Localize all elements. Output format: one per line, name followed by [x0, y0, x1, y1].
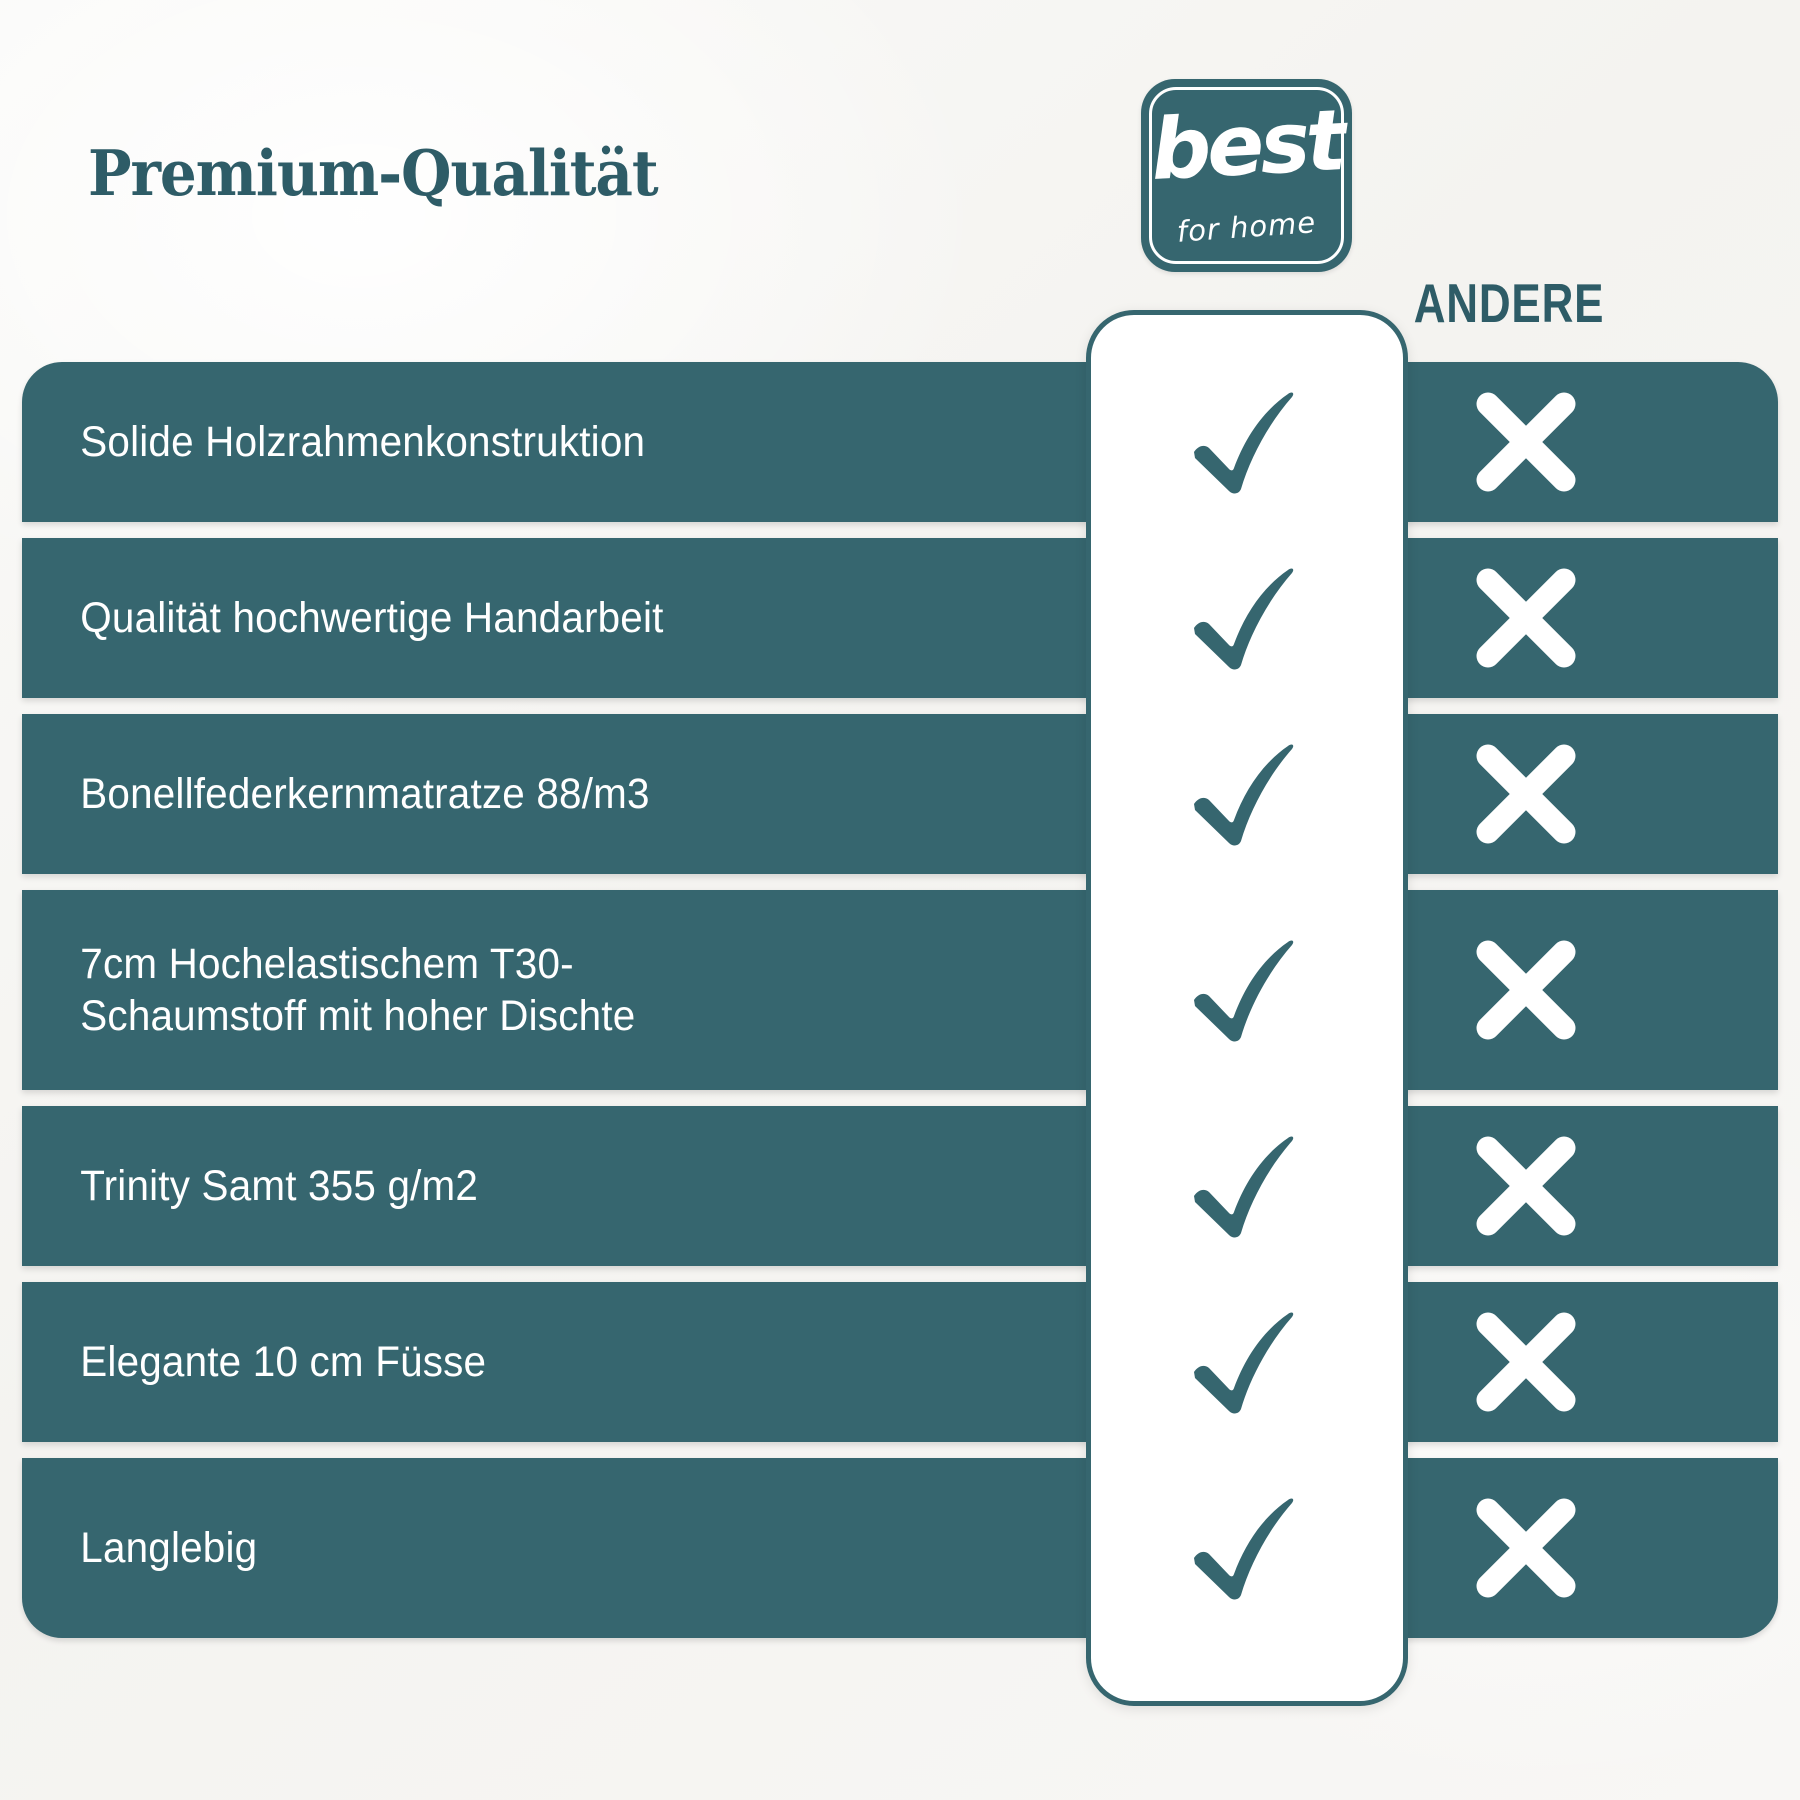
cross-icon — [1472, 936, 1580, 1044]
cross-icon — [1472, 564, 1580, 672]
check-icon — [1188, 566, 1306, 670]
feature-label: Langlebig — [22, 1522, 896, 1574]
check-icon — [1188, 1134, 1306, 1238]
brand-logo-wordmark: best — [1139, 98, 1354, 193]
brand-logo-tagline: for home — [1140, 206, 1353, 250]
page-title: Premium-Qualität — [88, 136, 658, 210]
check-icon — [1188, 742, 1306, 846]
feature-row: Solide Holzrahmenkonstruktion — [22, 362, 1778, 522]
brand-logo: best for home — [1141, 79, 1352, 272]
feature-label: Solide Holzrahmenkonstruktion — [22, 416, 896, 468]
feature-rows: Solide HolzrahmenkonstruktionQualität ho… — [22, 362, 1778, 1638]
cross-icon — [1472, 1132, 1580, 1240]
comparison-infographic: Premium-Qualität best for home ANDERE So… — [0, 0, 1800, 1800]
check-icon — [1188, 1496, 1306, 1600]
check-icon — [1188, 390, 1306, 494]
feature-row: Bonellfederkernmatratze 88/m3 — [22, 714, 1778, 874]
feature-label: Bonellfederkernmatratze 88/m3 — [22, 768, 896, 820]
feature-label: Elegante 10 cm Füsse — [22, 1336, 896, 1388]
feature-label: 7cm Hochelastischem T30-Schaumstoff mit … — [22, 938, 896, 1043]
cross-icon — [1472, 740, 1580, 848]
cross-icon — [1472, 1308, 1580, 1416]
feature-label: Qualität hochwertige Handarbeit — [22, 592, 896, 644]
column-header-andere: ANDERE — [1389, 271, 1629, 335]
feature-row: Trinity Samt 355 g/m2 — [22, 1106, 1778, 1266]
feature-row: Qualität hochwertige Handarbeit — [22, 538, 1778, 698]
feature-row: Langlebig — [22, 1458, 1778, 1638]
check-icon — [1188, 938, 1306, 1042]
feature-row: 7cm Hochelastischem T30-Schaumstoff mit … — [22, 890, 1778, 1090]
check-icon — [1188, 1310, 1306, 1414]
feature-label: Trinity Samt 355 g/m2 — [22, 1160, 896, 1212]
cross-icon — [1472, 388, 1580, 496]
cross-icon — [1472, 1494, 1580, 1602]
feature-row: Elegante 10 cm Füsse — [22, 1282, 1778, 1442]
